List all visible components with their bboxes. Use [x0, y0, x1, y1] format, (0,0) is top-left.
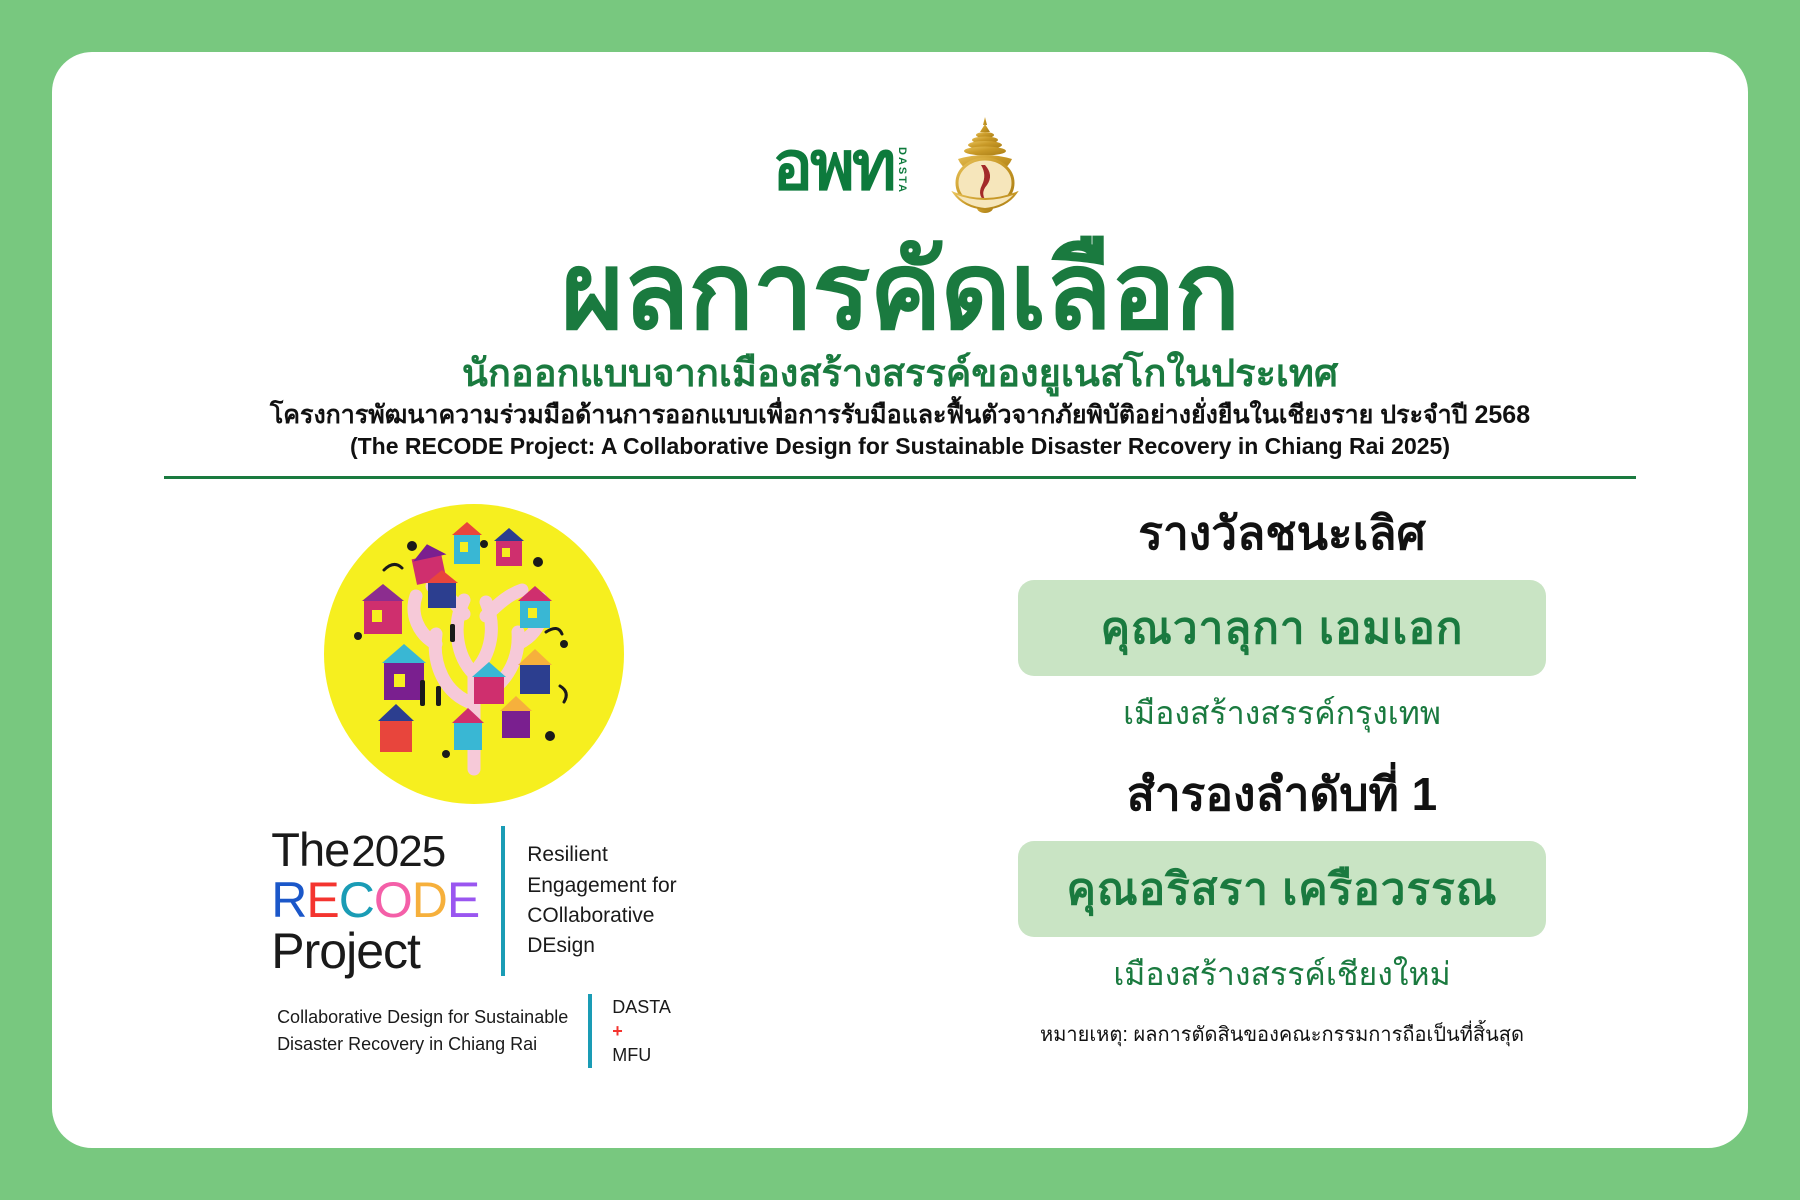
recode-wordmark: The 2025 RECODE Project Resilient Engage… — [271, 826, 676, 976]
recode-the: The — [271, 826, 349, 873]
partner-mfu: MFU — [612, 1043, 671, 1067]
project-tagline-line-1: Collaborative Design for Sustainable — [277, 1004, 568, 1031]
royal-garuda-emblem-icon — [942, 115, 1028, 219]
header-logo-row: อพท DASTA — [52, 112, 1748, 222]
decision-note: หมายเหตุ: ผลการตัดสินของคณะกรรมการถือเป็… — [1040, 1018, 1524, 1050]
subtitle-project-thai: โครงการพัฒนาความร่วมมือด้านการออกแบบเพื่… — [52, 400, 1748, 431]
page-title: ผลการคัดเลือก — [52, 234, 1748, 347]
project-tagline-block: Collaborative Design for Sustainable Dis… — [277, 994, 671, 1068]
recode-letter-e1: E — [306, 872, 338, 928]
recode-letters: RECODE — [271, 875, 479, 925]
project-tagline-line-2: Disaster Recovery in Chiang Rai — [277, 1031, 568, 1058]
project-tagline: Collaborative Design for Sustainable Dis… — [277, 1004, 568, 1058]
subtitle-primary: นักออกแบบจากเมืองสร้างสรรค์ของยูเนสโกในป… — [52, 352, 1748, 398]
subtitle-project-english: (The RECODE Project: A Collaborative Des… — [52, 432, 1748, 461]
recode-letter-c: C — [339, 872, 374, 928]
award-city-runner-up: เมืองสร้างสรรค์เชียงใหม่ — [1113, 949, 1450, 1000]
partner-list: DASTA + MFU — [612, 995, 671, 1068]
recode-letter-d: D — [412, 872, 447, 928]
recode-expansion: Resilient Engagement for COllaborative D… — [527, 840, 676, 962]
poster-root: อพท DASTA — [0, 0, 1800, 1200]
recode-expansion-line-4: DEsign — [527, 931, 676, 961]
recode-divider — [501, 826, 505, 976]
poster-card: อพท DASTA — [52, 52, 1748, 1148]
award-heading-runner-up: สำรองลำดับที่ 1 — [1127, 765, 1437, 825]
recode-tree-illustration — [324, 504, 624, 804]
dasta-logo: อพท DASTA — [772, 136, 908, 197]
recode-expansion-line-1: Resilient — [527, 840, 676, 870]
header-divider — [164, 476, 1636, 479]
award-name-runner-up: คุณอริสรา เครือวรรณ — [1018, 841, 1546, 937]
recode-expansion-line-3: COllaborative — [527, 901, 676, 931]
recode-year: 2025 — [351, 830, 445, 874]
partner-dasta: DASTA — [612, 995, 671, 1019]
award-heading-winner: รางวัลชนะเลิศ — [1138, 504, 1426, 564]
recode-letter-o: O — [374, 872, 412, 928]
dasta-logo-text: อพท — [772, 136, 894, 197]
recode-line-the-year: The 2025 — [271, 826, 479, 874]
recode-project-word: Project — [271, 926, 479, 976]
recode-wordmark-left: The 2025 RECODE Project — [271, 826, 479, 976]
award-city-winner: เมืองสร้างสรรค์กรุงเทพ — [1123, 688, 1441, 739]
award-name-winner: คุณวาลุกา เอมเอก — [1018, 580, 1546, 676]
dasta-logo-subtext: DASTA — [896, 147, 908, 194]
awards-column: รางวัลชนะเลิศ คุณวาลุกา เอมเอก เมืองสร้า… — [932, 504, 1632, 1050]
recode-expansion-line-2: Engagement for — [527, 871, 676, 901]
partner-divider — [588, 994, 592, 1068]
project-logo-column: The 2025 RECODE Project Resilient Engage… — [164, 504, 784, 1068]
recode-letter-r: R — [271, 872, 306, 928]
plus-icon: + — [612, 1019, 671, 1043]
recode-letter-e2: E — [447, 872, 479, 928]
